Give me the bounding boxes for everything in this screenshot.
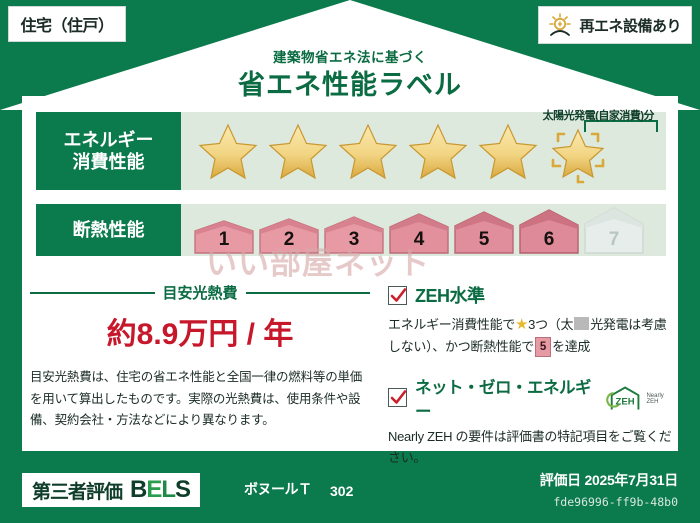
rule-left bbox=[30, 292, 155, 294]
check-icon bbox=[390, 389, 407, 406]
insulation-scale-panel: 1 2 3 bbox=[181, 204, 666, 256]
evaluation-id: fde96996-ff9b-48b0 bbox=[553, 495, 678, 509]
energy-performance-label: 住宅（住戸） 再エネ設備あり 建築物省エネ法に基づく 省エネ性能ラベル エネルギ… bbox=[0, 0, 700, 523]
insulation-chip: 5 bbox=[535, 337, 551, 357]
room-number: 302 bbox=[330, 483, 353, 499]
zeh-body-part2: 3つ（太 bbox=[528, 317, 573, 332]
utility-cost-block: 目安光熱費 約8.9万円 / 年 目安光熱費は、住宅の省エネ性能と全国一律の燃料… bbox=[30, 282, 370, 432]
insulation-performance-row: 断熱性能 1 bbox=[36, 204, 666, 256]
star-rating bbox=[181, 120, 611, 182]
energy-label-line2: 消費性能 bbox=[73, 151, 145, 174]
zeh-standard-checkbox[interactable] bbox=[388, 286, 407, 305]
utility-cost-value: 約8.9万円 / 年 bbox=[30, 309, 370, 353]
dwelling-type-text: 住宅（住戸） bbox=[20, 12, 113, 36]
energy-performance-row: エネルギー 消費性能 bbox=[36, 112, 666, 190]
footer: 第三者評価 BELS ボヌールＴ 302 評価日 2025年7月31日 fde9… bbox=[0, 451, 700, 523]
zeh-body-part1: エネルギー消費性能で bbox=[388, 317, 515, 332]
star-icon bbox=[335, 120, 401, 182]
insulation-level-number: 1 bbox=[193, 229, 255, 251]
insulation-level-6: 6 bbox=[518, 209, 580, 254]
insulation-level-2: 2 bbox=[258, 218, 320, 254]
insulation-level-number: 4 bbox=[388, 229, 450, 251]
energy-star-panel: 太陽光発電(自家消費)分 bbox=[181, 112, 666, 190]
utility-cost-title: 目安光熱費 bbox=[163, 282, 238, 303]
zeh-netzero-checkbox[interactable] bbox=[388, 388, 407, 407]
zeh-netzero-head: ネット・ゼロ・エネルギー ZEH Nearly ZEH bbox=[388, 374, 676, 422]
star-1 bbox=[195, 120, 261, 182]
insulation-level-7: 7 bbox=[583, 207, 645, 254]
zeh-section: ZEH水準 エネルギー消費性能で★3つ（太光発電は考慮しない）、かつ断熱性能で5… bbox=[388, 282, 676, 468]
insulation-level-3: 3 bbox=[323, 216, 385, 254]
utility-cost-note: 目安光熱費は、住宅の省エネ性能と全国一律の燃料等の単価を用いて算出したものです。… bbox=[30, 367, 370, 432]
bels-logo: BELS bbox=[130, 476, 190, 504]
inline-star-icon: ★ bbox=[515, 316, 528, 333]
star-icon bbox=[475, 120, 541, 182]
insulation-level-number: 6 bbox=[518, 229, 580, 251]
star-icon bbox=[265, 120, 331, 182]
insulation-level-1: 1 bbox=[193, 220, 255, 254]
zeh-standard-block: ZEH水準 エネルギー消費性能で★3つ（太光発電は考慮しない）、かつ断熱性能で5… bbox=[388, 282, 676, 358]
zeh-standard-head: ZEH水準 bbox=[388, 282, 676, 308]
star-3 bbox=[335, 120, 401, 182]
insulation-scale: 1 2 3 bbox=[181, 207, 645, 254]
star-icon bbox=[405, 120, 471, 182]
star-5 bbox=[475, 120, 541, 182]
zeh-standard-body: エネルギー消費性能で★3つ（太光発電は考慮しない）、かつ断熱性能で5を達成 bbox=[388, 313, 676, 358]
star-2 bbox=[265, 120, 331, 182]
zeh-logo: ZEH Nearly ZEH bbox=[606, 384, 676, 412]
insulation-level-4: 4 bbox=[388, 213, 450, 254]
rule-right bbox=[246, 292, 371, 294]
solar-bracket: 太陽光発電(自家消費)分 bbox=[584, 120, 658, 132]
insulation-level-number: 5 bbox=[453, 229, 515, 251]
insulation-level-number: 7 bbox=[583, 229, 645, 251]
solar-caption: 太陽光発電(自家消費)分 bbox=[543, 107, 654, 123]
renewable-energy-badge: 再エネ設備あり bbox=[538, 6, 692, 44]
building-name: ボヌールＴ bbox=[244, 479, 312, 499]
zeh-logo-sub: Nearly ZEH bbox=[646, 393, 676, 412]
insulation-level-5: 5 bbox=[453, 211, 515, 254]
zeh-netzero-title: ネット・ゼロ・エネルギー bbox=[415, 374, 598, 422]
evaluation-date-label: 評価日 bbox=[540, 472, 581, 488]
label-title: 省エネ性能ラベル bbox=[0, 63, 700, 102]
energy-performance-label: エネルギー 消費性能 bbox=[36, 112, 181, 190]
check-icon bbox=[390, 287, 407, 304]
bels-plate: 第三者評価 BELS bbox=[22, 473, 200, 507]
star-4 bbox=[405, 120, 471, 182]
solar-sun-icon bbox=[547, 12, 573, 38]
evaluation-date-value: 2025年7月31日 bbox=[584, 472, 678, 488]
redacted-mark bbox=[574, 317, 589, 330]
evaluation-date: 評価日 2025年7月31日 bbox=[540, 470, 678, 490]
third-party-eval-text: 第三者評価 bbox=[32, 477, 122, 504]
insulation-level-number: 2 bbox=[258, 229, 320, 251]
zeh-body-part4: を達成 bbox=[552, 339, 590, 354]
star-icon bbox=[195, 120, 261, 182]
insulation-label-text: 断熱性能 bbox=[73, 219, 145, 242]
details-section: 目安光熱費 約8.9万円 / 年 目安光熱費は、住宅の省エネ性能と全国一律の燃料… bbox=[0, 282, 700, 452]
renewable-badge-text: 再エネ設備あり bbox=[579, 15, 681, 36]
energy-label-line1: エネルギー bbox=[64, 129, 154, 152]
insulation-level-number: 3 bbox=[323, 229, 385, 251]
dwelling-type-tag: 住宅（住戸） bbox=[8, 6, 126, 42]
insulation-performance-label: 断熱性能 bbox=[36, 204, 181, 256]
svg-text:ZEH: ZEH bbox=[616, 396, 635, 407]
utility-cost-title-row: 目安光熱費 bbox=[30, 282, 370, 303]
zeh-house-icon: ZEH bbox=[606, 384, 644, 412]
performance-section: エネルギー 消費性能 bbox=[36, 112, 666, 256]
zeh-standard-title: ZEH水準 bbox=[415, 282, 485, 308]
